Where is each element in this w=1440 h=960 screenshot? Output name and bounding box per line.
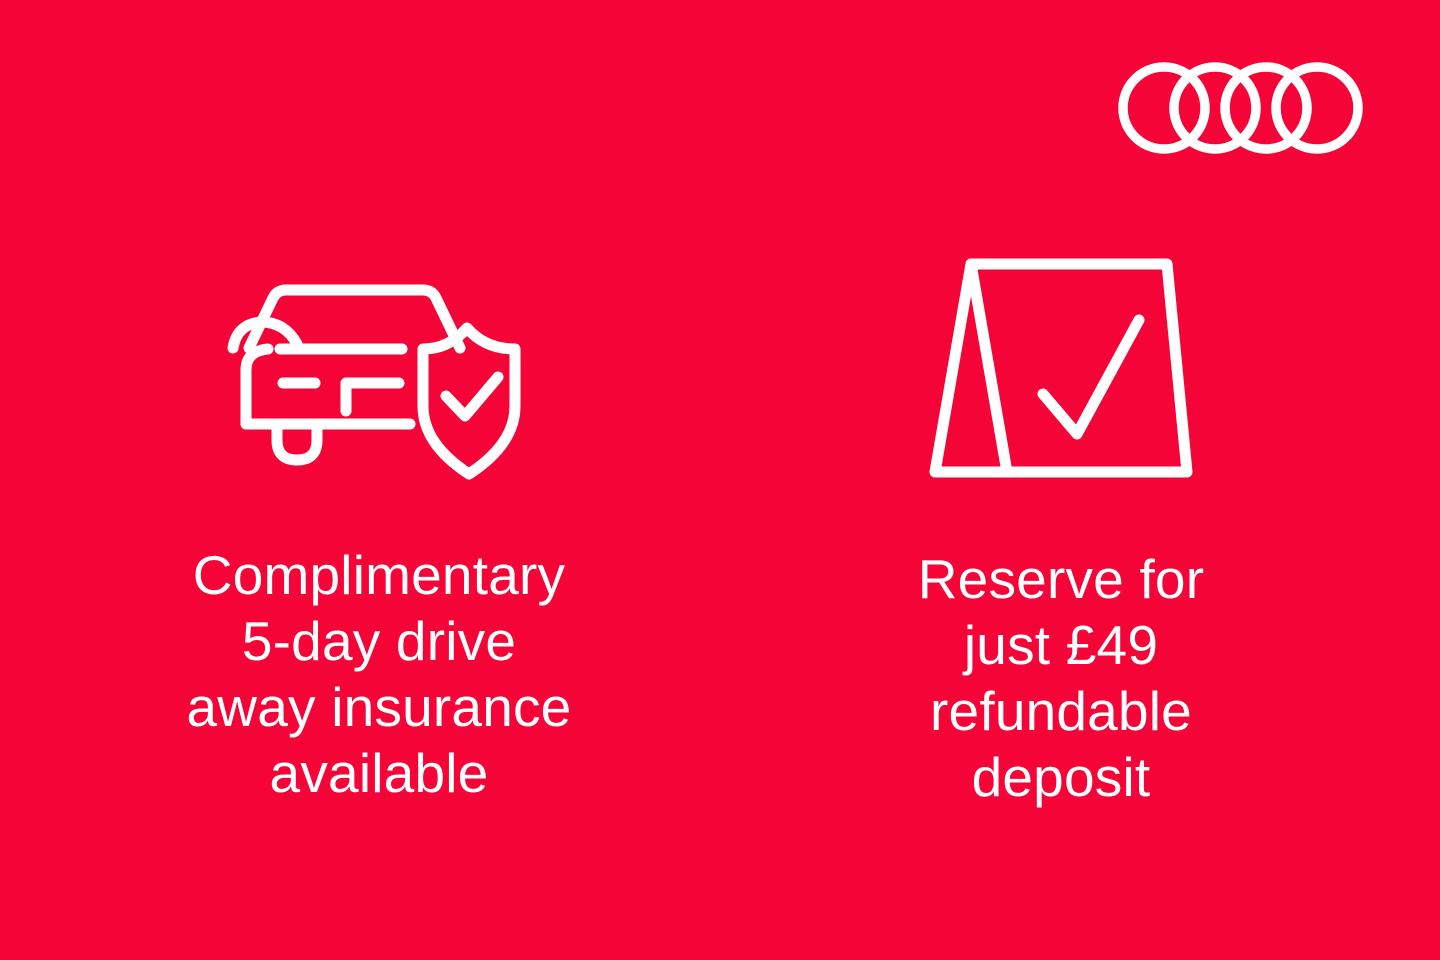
folded-card-check-icon — [925, 254, 1197, 489]
feature-caption-insurance: Complimentary 5-day drive away insurance… — [187, 542, 572, 806]
car-shield-insurance-icon-wrap — [227, 248, 531, 486]
folded-card-check-icon-wrap — [925, 252, 1197, 490]
feature-item-deposit: Reserve for just £49 refundable deposit — [811, 0, 1311, 810]
car-shield-insurance-icon — [227, 248, 531, 487]
feature-caption-deposit: Reserve for just £49 refundable deposit — [918, 546, 1204, 810]
feature-list: Complimentary 5-day drive away insurance… — [0, 0, 1440, 960]
feature-item-insurance: Complimentary 5-day drive away insurance… — [129, 0, 629, 806]
promo-panel: Complimentary 5-day drive away insurance… — [0, 0, 1440, 960]
